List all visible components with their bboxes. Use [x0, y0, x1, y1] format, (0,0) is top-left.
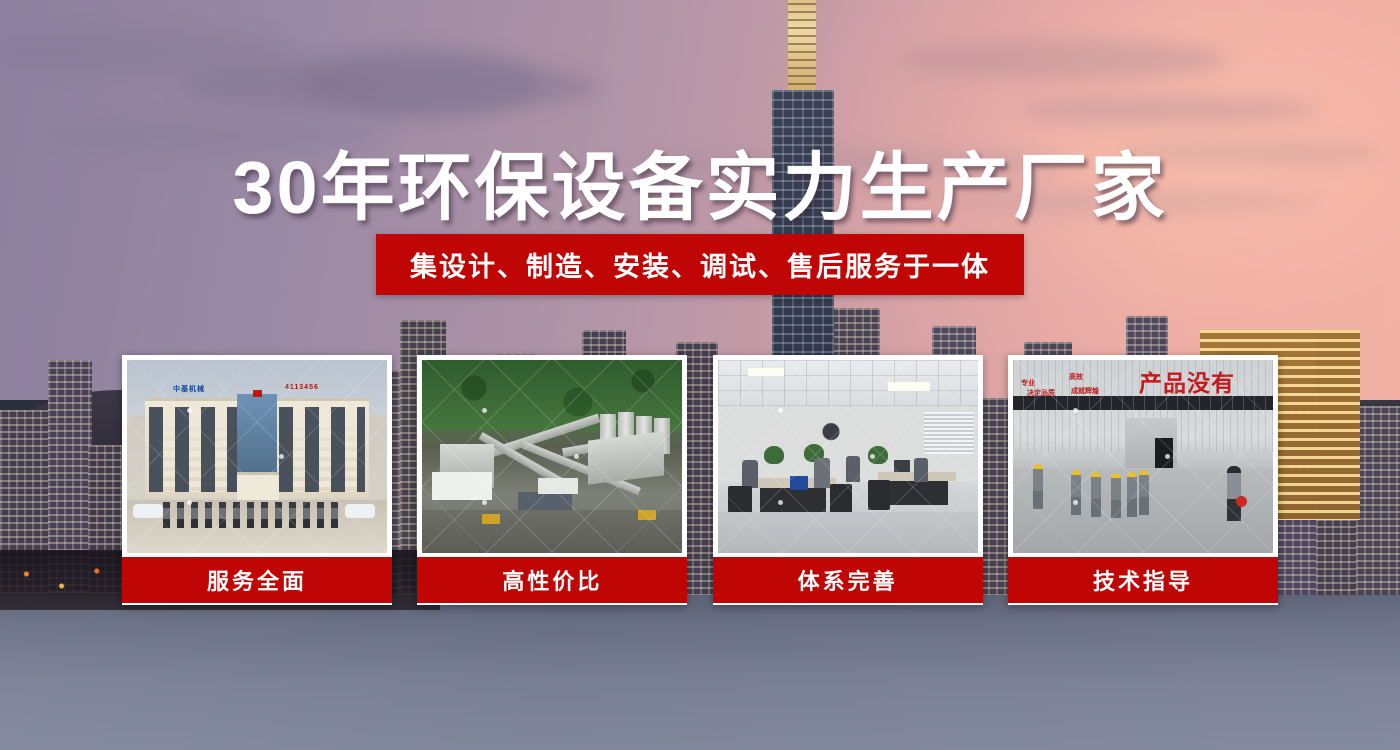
- card-label: 技术指导: [1008, 557, 1278, 603]
- feature-card[interactable]: 产品没有 专业 高效 决定品质 成就辉煌: [1008, 355, 1278, 605]
- hero-banner: 30年环保设备实力生产厂家 集设计、制造、安装、调试、售后服务于一体 中基机械 …: [0, 0, 1400, 750]
- water-reflection: [0, 595, 1400, 750]
- feature-card-list: 中基机械 4113456: [122, 355, 1278, 605]
- watermark-overlay: [127, 360, 387, 553]
- card-label: 高性价比: [417, 557, 687, 603]
- page-title: 30年环保设备实力生产厂家: [0, 128, 1400, 235]
- river: [0, 595, 1400, 750]
- watermark-overlay: [422, 360, 682, 553]
- subtitle-banner: 集设计、制造、安装、调试、售后服务于一体: [376, 234, 1024, 295]
- feature-card[interactable]: 中基机械 4113456: [122, 355, 392, 605]
- card-photo-office: [718, 360, 978, 553]
- card-label: 体系完善: [713, 557, 983, 603]
- card-label: 服务全面: [122, 557, 392, 603]
- card-photo-headquarters: 中基机械 4113456: [127, 360, 387, 553]
- watermark-overlay: [718, 360, 978, 553]
- watermark-overlay: [1013, 360, 1273, 553]
- card-photo-plant: [422, 360, 682, 553]
- feature-card[interactable]: 高性价比: [417, 355, 687, 605]
- feature-card[interactable]: 体系完善: [713, 355, 983, 605]
- card-photo-workers: 产品没有 专业 高效 决定品质 成就辉煌: [1013, 360, 1273, 553]
